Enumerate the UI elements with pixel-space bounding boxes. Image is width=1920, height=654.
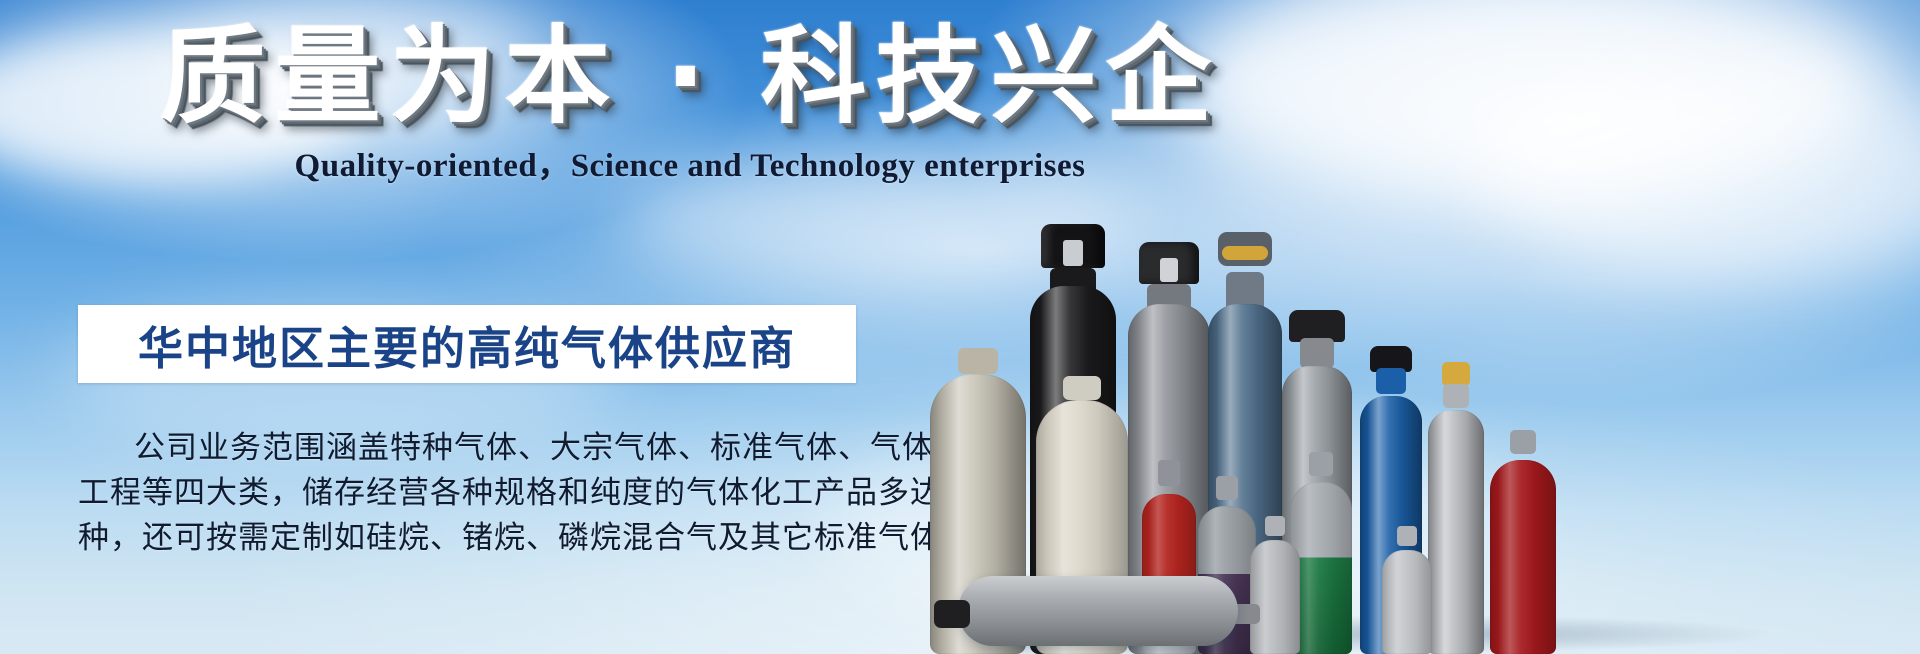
gas-cylinder-array <box>930 0 1920 654</box>
banner-paragraph: 公司业务范围涵盖特种气体、大宗气体、标准气体、气体管道 工程等四大类，储存经营各… <box>78 425 878 560</box>
cylinder-neck <box>1443 384 1469 408</box>
cylinder-body <box>1428 410 1484 654</box>
silver-aluminum-cylinder <box>1428 378 1484 654</box>
paragraph-line: 种，还可按需定制如硅烷、锗烷、磷烷混合气及其它标准气体。 <box>78 515 878 560</box>
cylinder-body <box>1382 550 1432 654</box>
cylinder-neck <box>1397 526 1417 546</box>
small-silver-cylinder <box>1250 526 1300 654</box>
cylinder-neck <box>1510 430 1536 454</box>
highlight-text: 华中地区主要的高纯气体供应商 <box>138 312 796 377</box>
dark-red-cylinder <box>1490 442 1556 654</box>
cylinder-neck <box>1063 376 1101 400</box>
cylinder-neck <box>1265 516 1285 536</box>
cylinder-neck <box>1300 338 1334 368</box>
cylinder-body <box>1490 460 1556 654</box>
cylinder-valve <box>1063 240 1083 266</box>
cylinder-valve <box>1160 258 1178 282</box>
cylinder-neck <box>1376 368 1406 394</box>
cylinder-neck <box>1309 452 1333 476</box>
cylinder-neck <box>1158 460 1180 486</box>
highlight-box: 华中地区主要的高纯气体供应商 <box>78 305 856 383</box>
horizontal-cylinder-valve <box>934 600 970 628</box>
paragraph-line: 公司业务范围涵盖特种气体、大宗气体、标准气体、气体管道 <box>78 425 878 470</box>
paragraph-line: 工程等四大类，储存经营各种规格和纯度的气体化工产品多达上百 <box>78 470 878 515</box>
cylinder-handwheel <box>1222 246 1268 260</box>
cylinder-body <box>1250 540 1300 654</box>
cylinder-cap <box>1442 362 1470 386</box>
promotional-banner: 质量为本 · 科技兴企 Quality-oriented，Science and… <box>0 0 1920 654</box>
horizontal-lying-cylinder <box>958 576 1238 646</box>
small-silver-cylinder <box>1382 536 1432 654</box>
cylinder-neck <box>958 348 998 374</box>
cylinder-neck <box>1216 476 1238 500</box>
